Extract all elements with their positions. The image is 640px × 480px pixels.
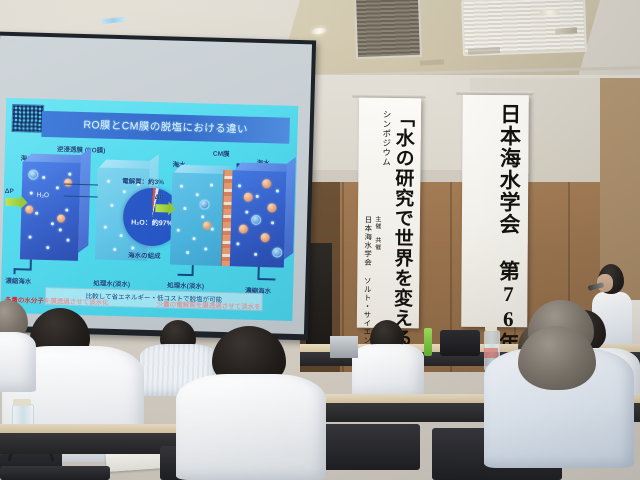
conference-photo: RO膜とCM膜の脱塩における違い 逆浸透膜 (RO膜) 海水 <box>0 0 640 480</box>
bottle-label <box>484 348 498 358</box>
handbag <box>440 330 480 356</box>
bottle-cap <box>485 326 497 331</box>
symposium-host-label: 主催 共催 <box>372 216 380 251</box>
projection-glare <box>0 98 298 321</box>
laptop <box>330 336 358 358</box>
green-item <box>424 328 432 356</box>
conference-banner: 日本海水学会 第76年会 <box>461 95 529 327</box>
chair <box>0 466 110 480</box>
bottle-cap <box>13 399 31 406</box>
ceiling-spotlight-icon <box>540 10 560 15</box>
screen-surface: RO膜とCM膜の脱塩における違い 逆浸透膜 (RO膜) 海水 <box>0 36 312 335</box>
symposium-banner-kana: シンポジウム <box>382 110 391 167</box>
projection-screen: RO膜とCM膜の脱塩における違い 逆浸透膜 (RO膜) 海水 <box>0 32 316 341</box>
attendee-body-front <box>176 374 326 480</box>
attendee-body <box>0 332 36 392</box>
attendee-body <box>352 344 424 400</box>
symposium-banner: 「水の研究で世界を変える」 シンポジウム 主催 共催 日本海水学会 ソルト・サイ… <box>357 98 421 329</box>
ceiling-vent-dark-icon <box>354 0 422 59</box>
presentation-slide: RO膜とCM膜の脱塩における違い 逆浸透膜 (RO膜) 海水 <box>0 98 298 321</box>
